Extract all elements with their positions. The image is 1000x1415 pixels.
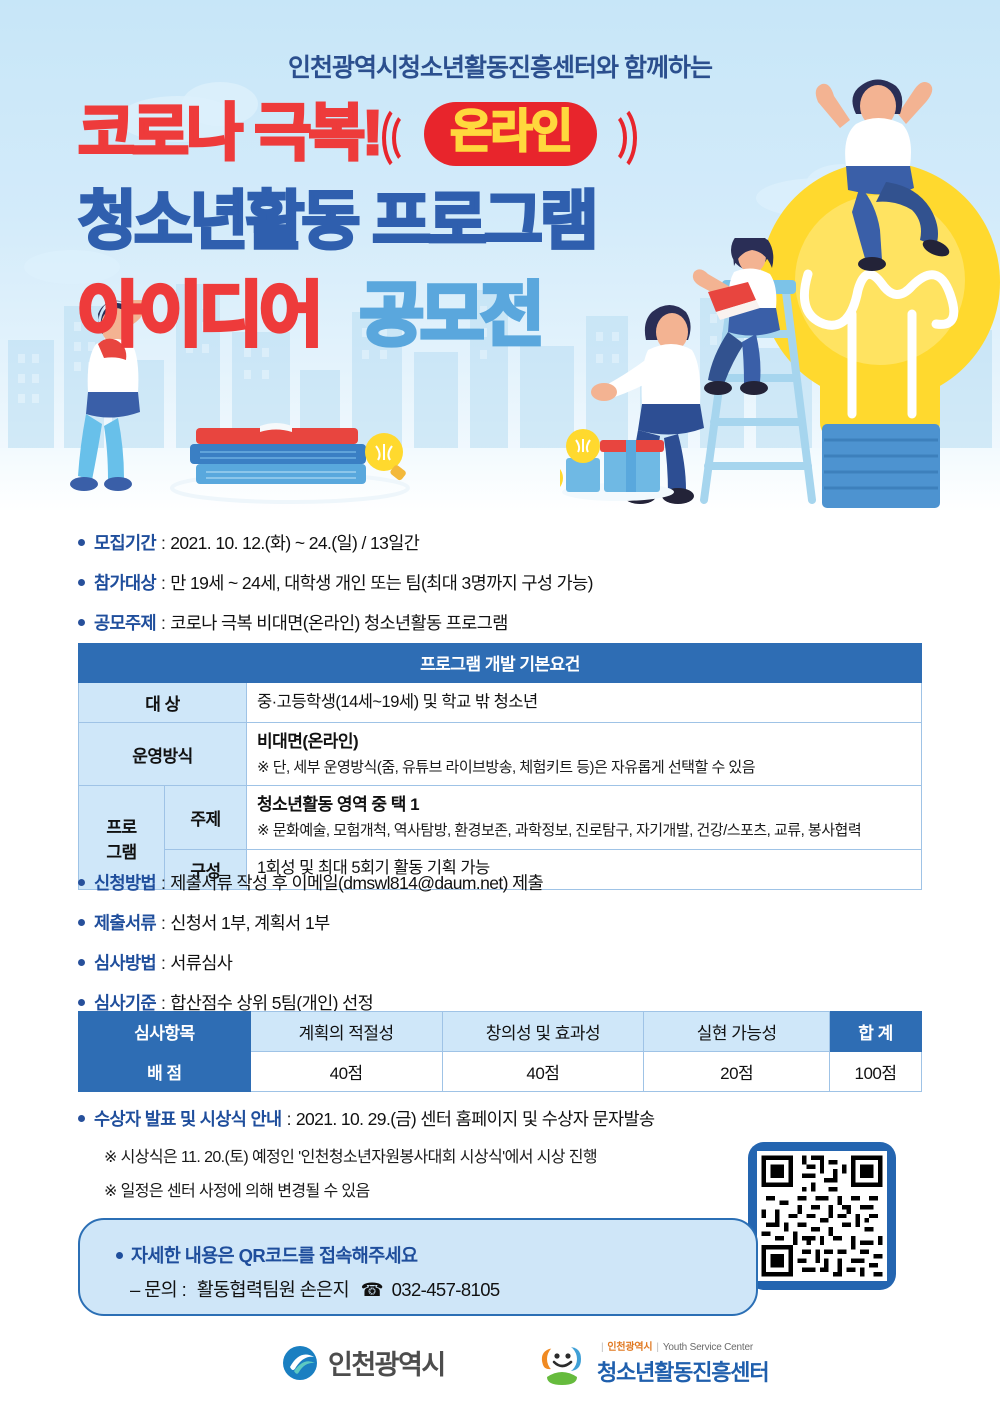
- incheon-swirl-icon: [282, 1345, 318, 1381]
- requirements-table-title: 프로그램 개발 기본요건: [79, 644, 922, 683]
- table-row: 운영방식 비대면(온라인) ※ 단, 세부 운영방식(줌, 유튜브 라이브방송,…: [79, 723, 922, 786]
- bullet-dot-icon: [78, 1115, 85, 1122]
- hero-illustration: 인천광역시청소년활동진흥센터와 함께하는 코로나 극복! 온라인 청소년활동 프…: [0, 0, 1000, 512]
- bullet-separator: :: [161, 873, 165, 894]
- row-value-method: 비대면(온라인) ※ 단, 세부 운영방식(줌, 유튜브 라이브방송, 체험키트…: [247, 723, 922, 786]
- table-row: 배 점 40점 40점 20점 100점: [79, 1052, 922, 1092]
- bullet-label: 심사방법: [94, 950, 156, 975]
- sound-wave-right-icon: [611, 103, 637, 165]
- logo-youth-center: |인천광역시|Youth Service Center 청소년활동진흥센터: [535, 1337, 768, 1387]
- bullet-award-announcement: 수상자 발표 및 시상식 안내 : 2021. 10. 29.(금) 센터 홈페…: [78, 1106, 938, 1131]
- bullet-review-method: 심사방법 : 서류심사: [78, 950, 938, 975]
- score-row-header-points: 배 점: [79, 1052, 251, 1092]
- row-label-topic: 주제: [165, 786, 247, 849]
- score-row-header-criteria: 심사항목: [79, 1012, 251, 1052]
- bullet-dot-icon: [78, 539, 85, 546]
- bullet-label: 모집기간: [94, 530, 156, 555]
- score-col-header-total: 합 계: [830, 1012, 922, 1052]
- bullet-value: 서류심사: [170, 950, 232, 975]
- callout-contact-phone: 032-457-8105: [392, 1279, 500, 1300]
- award-note-text: ※ 시상식은 11. 20.(토) 예정인 '인천청소년자원봉사대회 시상식'에…: [104, 1143, 597, 1167]
- requirements-table: 프로그램 개발 기본요건 대 상 중·고등학생(14세~19세) 및 학교 밖 …: [78, 643, 922, 890]
- row-value-topic: 청소년활동 영역 중 택 1 ※ 문화예술, 모험개척, 역사탐방, 환경보존,…: [247, 786, 922, 849]
- bullet-eligibility: 참가대상 : 만 19세 ~ 24세, 대학생 개인 또는 팀(최대 3명까지 …: [78, 570, 938, 595]
- callout-contact-prefix: – 문의 :: [130, 1279, 186, 1300]
- row-label-method: 운영방식: [79, 723, 247, 786]
- table-title-row: 프로그램 개발 기본요건: [79, 644, 922, 683]
- program-label-line2: 그램: [106, 843, 136, 862]
- bullet-separator: :: [161, 953, 165, 974]
- bullet-separator: :: [287, 1109, 291, 1130]
- program-label-line1: 프로: [106, 818, 136, 837]
- award-note-text: ※ 일정은 센터 사정에 의해 변경될 수 있음: [104, 1177, 370, 1201]
- method-primary: 비대면(온라인): [257, 730, 911, 755]
- logo-youth-center-name: 청소년활동진흥센터: [597, 1355, 768, 1387]
- bullet-value: 신청서 1부, 계획서 1부: [170, 910, 329, 935]
- bullet-dot-icon: [78, 619, 85, 626]
- kicker-suffix: 와 함께하는: [596, 54, 712, 82]
- score-col-header-2: 실현 가능성: [644, 1012, 830, 1052]
- score-col-header-0: 계획의 적절성: [250, 1012, 442, 1052]
- bullet-dot-icon: [78, 879, 85, 886]
- footer-logos: 인천광역시 |인천광역시|Youth Service Center 청소년활동진…: [0, 1337, 1000, 1397]
- bullet-recruit-period: 모집기간 : 2021. 10. 12.(화) ~ 24.(일) / 13일간: [78, 530, 938, 555]
- apply-bullet-list: 신청방법 : 제출서류 작성 후 이메일(dmswl814@daum.net) …: [78, 870, 938, 1030]
- poster-title: 코로나 극복! 온라인 청소년활동 프로그램 아이디어 공모전: [78, 95, 718, 361]
- row-value-target: 중·고등학생(14세~19세) 및 학교 밖 청소년: [247, 683, 922, 723]
- bullet-value: 2021. 10. 12.(화) ~ 24.(일) / 13일간: [170, 530, 419, 555]
- title-idea: 아이디어: [78, 280, 320, 350]
- bullet-separator: :: [161, 613, 165, 634]
- callout-contact-person: 활동협력팀원 손은지: [197, 1279, 349, 1300]
- bullet-value: 만 19세 ~ 24세, 대학생 개인 또는 팀(최대 3명까지 구성 가능): [170, 570, 593, 595]
- bullet-dot-icon: [78, 999, 85, 1006]
- score-value-1: 40점: [442, 1052, 644, 1092]
- topic-primary: 청소년활동 영역 중 택 1: [257, 793, 911, 818]
- bullet-dot-icon: [78, 579, 85, 586]
- bullet-label: 수상자 발표 및 시상식 안내: [94, 1106, 282, 1131]
- method-note: ※ 단, 세부 운영방식(줌, 유튜브 라이브방송, 체험키트 등)은 자유롭게…: [257, 757, 911, 779]
- callout-qr-instruction: 자세한 내용은 QR코드를 접속해주세요: [116, 1242, 417, 1268]
- row-label-target: 대 상: [79, 683, 247, 723]
- sound-wave-left-icon: [382, 103, 408, 165]
- callout-contact-line: – 문의 : 활동협력팀원 손은지 ☎ 032-457-8105: [130, 1276, 500, 1302]
- qr-code-frame[interactable]: [748, 1142, 896, 1290]
- qr-code-icon[interactable]: [757, 1151, 887, 1281]
- logo-incheon-city-text: 인천광역시: [328, 1343, 445, 1382]
- online-badge: 온라인: [424, 102, 597, 166]
- bullet-value: 제출서류 작성 후 이메일(dmswl814@daum.net) 제출: [170, 870, 543, 895]
- bullet-apply-method: 신청방법 : 제출서류 작성 후 이메일(dmswl814@daum.net) …: [78, 870, 938, 895]
- score-value-0: 40점: [250, 1052, 442, 1092]
- title-corona-overcome: 코로나 극복!: [78, 103, 380, 165]
- bullet-contest-theme: 공모주제 : 코로나 극복 비대면(온라인) 청소년활동 프로그램: [78, 610, 938, 635]
- table-row: 대 상 중·고등학생(14세~19세) 및 학교 밖 청소년: [79, 683, 922, 723]
- title-line-2: 청소년활동 프로그램: [78, 175, 718, 267]
- bullet-dot-icon: [116, 1252, 123, 1259]
- bullet-separator: :: [161, 913, 165, 934]
- bullet-dot-icon: [78, 919, 85, 926]
- bullet-label: 신청방법: [94, 870, 156, 895]
- phone-icon: ☎: [361, 1279, 383, 1300]
- kicker-center-name: 인천광역시청소년활동진흥센터: [288, 54, 596, 82]
- title-line-3: 아이디어 공모전: [78, 269, 718, 361]
- logo-youth-center-city: 인천광역시: [607, 1342, 652, 1353]
- title-line-1: 코로나 극복! 온라인: [78, 95, 718, 173]
- bullet-label: 참가대상: [94, 570, 156, 595]
- bullet-label: 제출서류: [94, 910, 156, 935]
- score-value-2: 20점: [644, 1052, 830, 1092]
- books-illustration: [160, 410, 420, 505]
- title-youth-program: 청소년활동 프로그램: [78, 189, 596, 253]
- bullet-separator: :: [161, 533, 165, 554]
- logo-incheon-city: 인천광역시: [282, 1343, 445, 1382]
- bullet-value: 2021. 10. 29.(금) 센터 홈페이지 및 수상자 문자발송: [296, 1106, 655, 1131]
- title-contest: 공모전: [360, 280, 541, 350]
- score-col-header-1: 창의성 및 효과성: [442, 1012, 644, 1052]
- bullet-value: 코로나 극복 비대면(온라인) 청소년활동 프로그램: [170, 610, 508, 635]
- kicker-line: 인천광역시청소년활동진흥센터와 함께하는: [0, 48, 1000, 84]
- qr-callout-box: 자세한 내용은 QR코드를 접속해주세요 – 문의 : 활동협력팀원 손은지 ☎…: [78, 1218, 758, 1316]
- bullet-dot-icon: [78, 959, 85, 966]
- youth-center-mascot-icon: [535, 1337, 589, 1387]
- bullet-separator: :: [161, 573, 165, 594]
- score-value-total: 100점: [830, 1052, 922, 1092]
- logo-youth-center-english: Youth Service Center: [663, 1342, 753, 1353]
- poster-root: 인천광역시청소년활동진흥센터와 함께하는 코로나 극복! 온라인 청소년활동 프…: [0, 0, 1000, 1415]
- table-row: 프로 그램 주제 청소년활동 영역 중 택 1 ※ 문화예술, 모험개척, 역사…: [79, 786, 922, 849]
- info-bullet-list: 모집기간 : 2021. 10. 12.(화) ~ 24.(일) / 13일간 …: [78, 530, 938, 650]
- callout-qr-instruction-text: 자세한 내용은 QR코드를 접속해주세요: [131, 1245, 417, 1266]
- logo-youth-center-subtitle: |인천광역시|Youth Service Center: [597, 1338, 768, 1353]
- bullet-label: 공모주제: [94, 610, 156, 635]
- topic-note: ※ 문화예술, 모험개척, 역사탐방, 환경보존, 과학정보, 진로탐구, 자기…: [257, 820, 911, 842]
- bullet-required-documents: 제출서류 : 신청서 1부, 계획서 1부: [78, 910, 938, 935]
- table-row: 심사항목 계획의 적절성 창의성 및 효과성 실현 가능성 합 계: [79, 1012, 922, 1052]
- score-table: 심사항목 계획의 적절성 창의성 및 효과성 실현 가능성 합 계 배 점 40…: [78, 1011, 922, 1092]
